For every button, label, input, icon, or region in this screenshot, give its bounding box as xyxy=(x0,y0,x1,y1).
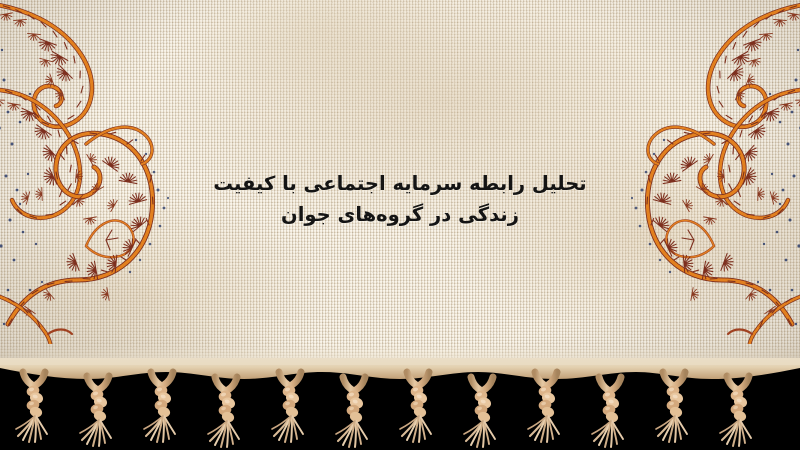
title-line-1: تحلیل رابطه سرمایه اجتماعی با کیفیت xyxy=(0,168,800,199)
page-title: تحلیل رابطه سرمایه اجتماعی با کیفیت زندگ… xyxy=(0,168,800,230)
textile-title-card: تحلیل رابطه سرمایه اجتماعی با کیفیت زندگ… xyxy=(0,0,800,450)
title-line-2: زندگی در گروه‌های جوان xyxy=(0,199,800,230)
knotted-tassel-fringe xyxy=(0,358,800,450)
